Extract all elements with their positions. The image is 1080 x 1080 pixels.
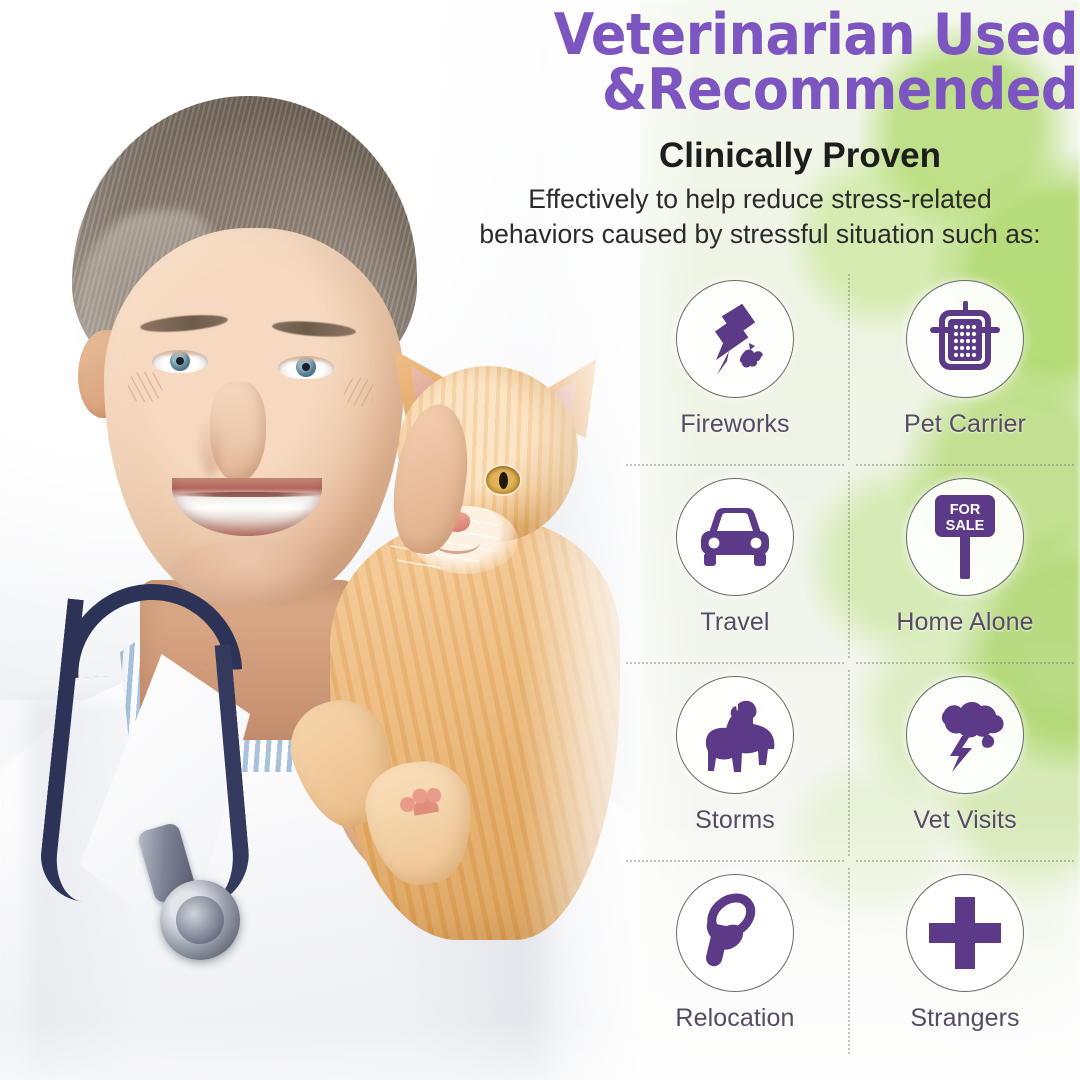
poster-canvas: Veterinarian Used &Recommended Clinicall…	[0, 0, 1080, 1080]
grid-label-strangers: Strangers	[910, 1004, 1019, 1033]
dog-and-cat-icon	[676, 676, 794, 794]
car-front-icon	[676, 478, 794, 596]
grid-cell-storms[interactable]: Storms	[620, 664, 850, 862]
pupil-left	[176, 357, 184, 365]
grid-label-relocation: Relocation	[675, 1004, 794, 1033]
grid-label-pet-carrier: Pet Carrier	[904, 410, 1026, 439]
grid-cell-travel[interactable]: Travel	[620, 466, 850, 664]
grid-cell-pet-carrier[interactable]: Pet Carrier	[850, 268, 1080, 466]
crows-feet-right	[344, 378, 374, 406]
grid-label-vet-visits: Vet Visits	[913, 806, 1016, 835]
eyelid-left	[152, 350, 208, 357]
kitten-eye-right	[486, 466, 520, 494]
nose-shadow	[200, 414, 222, 476]
for-sale-line2: SALE	[946, 518, 985, 534]
grid-label-fireworks: Fireworks	[680, 410, 789, 439]
medical-cross-icon	[906, 874, 1024, 992]
crows-feet-left	[128, 372, 162, 402]
page-title: Veterinarian Used &Recommended	[482, 8, 1078, 117]
pacifier-icon	[676, 874, 794, 992]
for-sale-sign-icon: FOR SALE	[906, 478, 1024, 596]
storm-cloud-lightning-icon	[906, 676, 1024, 794]
lip-line	[172, 492, 322, 497]
grid-cell-fireworks[interactable]: Fireworks	[620, 268, 850, 466]
eye-right	[278, 356, 334, 379]
photo-bottom-fade	[0, 1020, 640, 1080]
pet-carrier-cage-icon	[906, 280, 1024, 398]
grid-label-travel: Travel	[700, 608, 769, 637]
grid-cell-vet-visits[interactable]: Vet Visits	[850, 664, 1080, 862]
stress-triggers-grid: Fireworks	[620, 268, 1080, 1060]
firework-rocket-icon	[676, 280, 794, 398]
description-text: Effectively to help reduce stress-relate…	[440, 182, 1080, 252]
grid-cell-strangers[interactable]: Strangers	[850, 862, 1080, 1060]
grid-label-home-alone: Home Alone	[896, 608, 1033, 637]
grid-cell-relocation[interactable]: Relocation	[620, 862, 850, 1060]
eye-left	[152, 350, 208, 373]
eyelid-right	[278, 356, 334, 363]
for-sale-line1: FOR	[950, 502, 981, 518]
grid-label-storms: Storms	[695, 806, 775, 835]
pupil-right	[302, 363, 310, 371]
grid-cell-home-alone[interactable]: FOR SALE Home Alone	[850, 466, 1080, 664]
subheading: Clinically Proven	[520, 136, 1080, 176]
